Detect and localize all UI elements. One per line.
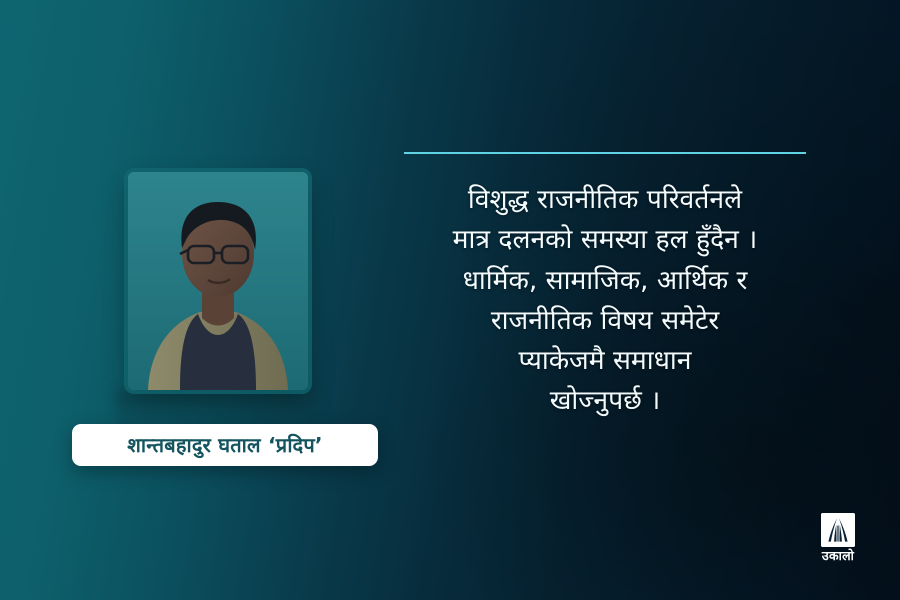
quote-text: विशुद्ध राजनीतिक परिवर्तनले मात्र दलनको …: [404, 180, 806, 422]
quote-block: विशुद्ध राजनीतिक परिवर्तनले मात्र दलनको …: [404, 152, 806, 422]
top-divider-rule: [404, 152, 806, 154]
quote-card: शान्तबहादुर घताल ‘प्रदिप’ विशुद्ध राजनीत…: [0, 0, 900, 600]
portrait-photo: [128, 172, 308, 390]
brand-logo: उकालो: [814, 513, 862, 563]
ukaalo-path-mark-icon: [821, 513, 855, 547]
speaker-name: शान्तबहादुर घताल ‘प्रदिप’: [127, 435, 322, 455]
brand-name: उकालो: [814, 550, 862, 563]
portrait-frame: [128, 172, 308, 390]
speaker-name-pill: शान्तबहादुर घताल ‘प्रदिप’: [72, 424, 378, 466]
